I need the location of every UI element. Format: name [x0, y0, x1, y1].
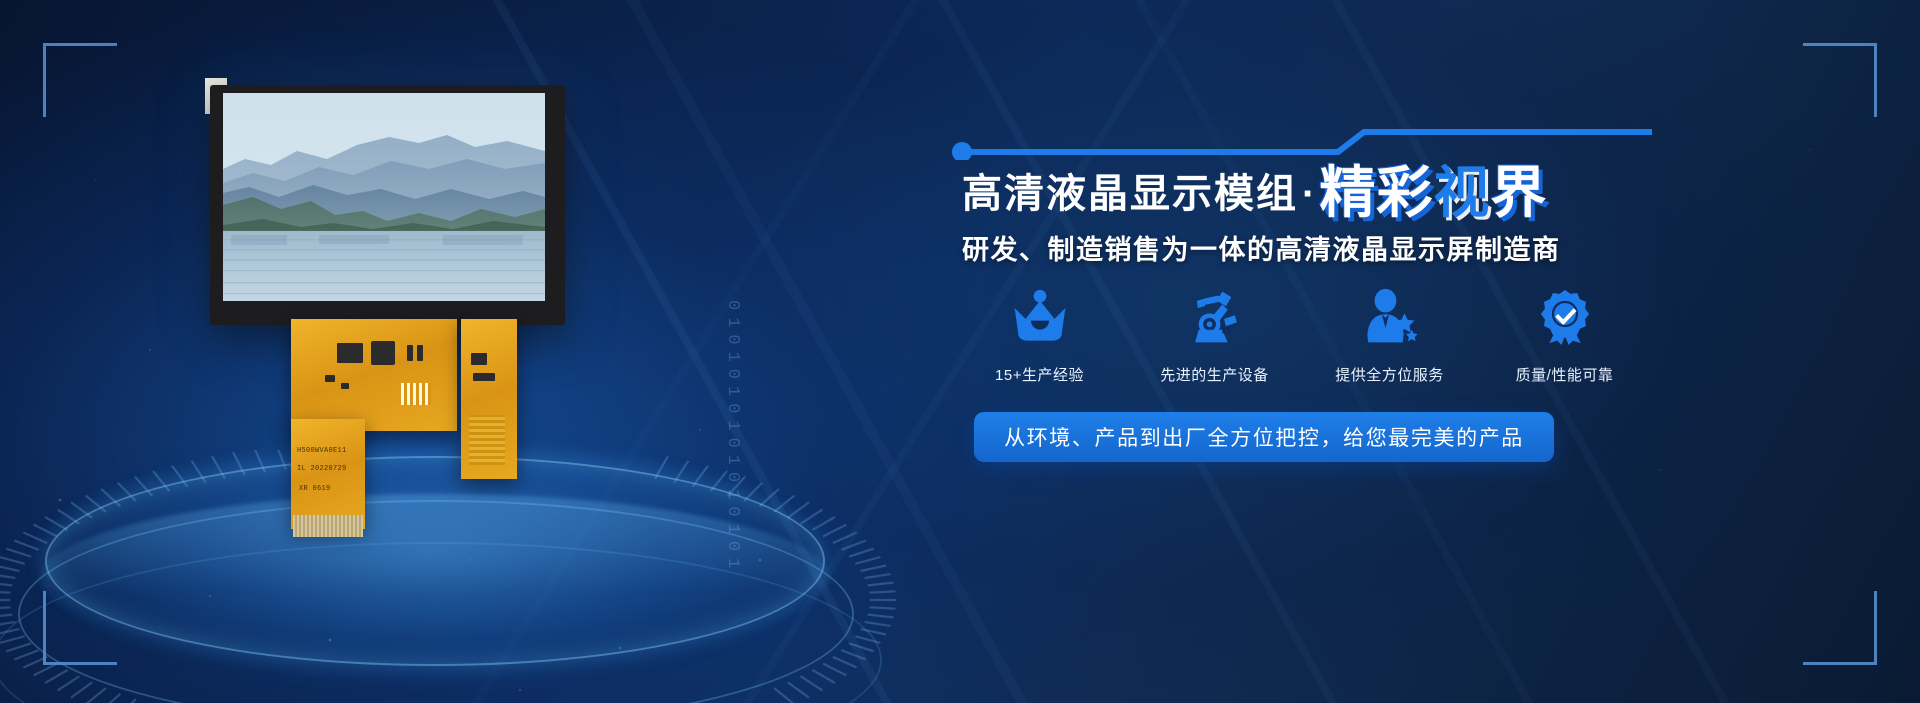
- pcb-chip-2: [371, 341, 395, 365]
- podium-band: [40, 494, 830, 664]
- pcb-right-board: [461, 319, 517, 479]
- podium-tick-marks: [0, 450, 920, 703]
- banner-content: 高清液晶显示模组 · 精彩 视 界 研发、制造销售为一体的高清液晶显示屏制造商 …: [952, 0, 1672, 703]
- pcb-label-lot: XR 0619: [299, 485, 331, 493]
- feature-label: 15+生产经验: [995, 364, 1084, 385]
- title-decoration-line: [952, 124, 1652, 160]
- pcb-label-date: IL 20220729: [297, 465, 347, 473]
- title-highlight-white2: 界: [1490, 165, 1547, 221]
- pcb-trace-block: [469, 415, 505, 465]
- binary-decoration: 0101010101010101: [723, 300, 742, 575]
- pcb-chip-1: [337, 343, 363, 363]
- pcb-label-model: H500WVA0E11: [297, 447, 347, 455]
- feature-label: 提供全方位服务: [1335, 364, 1444, 385]
- pcb-connector-pads: [401, 383, 431, 405]
- corner-bracket-bottom-right: [1803, 591, 1877, 665]
- quality-badge-icon: [1537, 282, 1593, 346]
- title-highlight-blue: 视: [1433, 165, 1490, 221]
- lcd-product-image: H500WVA0E11 IL 20220729 XR 0619: [205, 78, 635, 478]
- robot-arm-icon: [1185, 282, 1245, 346]
- pcb-tail-board: H500WVA0E11 IL 20220729 XR 0619: [291, 419, 365, 529]
- page-title: 高清液晶显示模组 · 精彩 视 界: [962, 160, 1547, 216]
- flex-ribbon-cable: [293, 515, 363, 537]
- cta-text: 从环境、产品到出厂全方位把控，给您最完美的产品: [1004, 422, 1524, 452]
- title-highlight-white: 精彩: [1319, 165, 1433, 221]
- promo-banner: 0101010101010101: [0, 0, 1920, 703]
- pcb-chip-7: [471, 353, 487, 365]
- title-separator: ·: [1302, 174, 1315, 214]
- pcb-main-board: [291, 319, 457, 431]
- podium-ring-inner: [45, 456, 825, 666]
- corner-bracket-top-right: [1803, 43, 1877, 117]
- cta-banner[interactable]: 从环境、产品到出厂全方位把控，给您最完美的产品: [974, 412, 1554, 462]
- feature-item-experience: 15+生产经验: [952, 282, 1127, 385]
- pcb-chip-8: [473, 373, 495, 381]
- feature-item-service: 提供全方位服务: [1302, 282, 1477, 385]
- podium-ring-outer: [0, 542, 882, 703]
- podium-ring-mid: [18, 500, 854, 703]
- page-subtitle: 研发、制造销售为一体的高清液晶显示屏制造商: [962, 228, 1561, 267]
- pcb-chip-6: [341, 383, 349, 389]
- pcb-chip-4: [417, 345, 423, 361]
- feature-item-equipment: 先进的生产设备: [1127, 282, 1302, 385]
- screen-landscape-image: [223, 93, 545, 301]
- lcd-screen: [223, 93, 545, 301]
- title-main-text: 高清液晶显示模组: [962, 174, 1298, 214]
- feature-label: 质量/性能可靠: [1516, 364, 1614, 385]
- corner-bracket-top-left: [43, 43, 117, 117]
- feature-list: 15+生产经验: [952, 282, 1652, 385]
- pcb-chip-3: [407, 345, 413, 361]
- feature-item-quality: 质量/性能可靠: [1477, 282, 1652, 385]
- crown-icon: [1011, 282, 1069, 346]
- pcb-chip-5: [325, 375, 335, 382]
- feature-label: 先进的生产设备: [1160, 364, 1269, 385]
- corner-bracket-bottom-left: [43, 591, 117, 665]
- service-person-icon: [1361, 282, 1419, 346]
